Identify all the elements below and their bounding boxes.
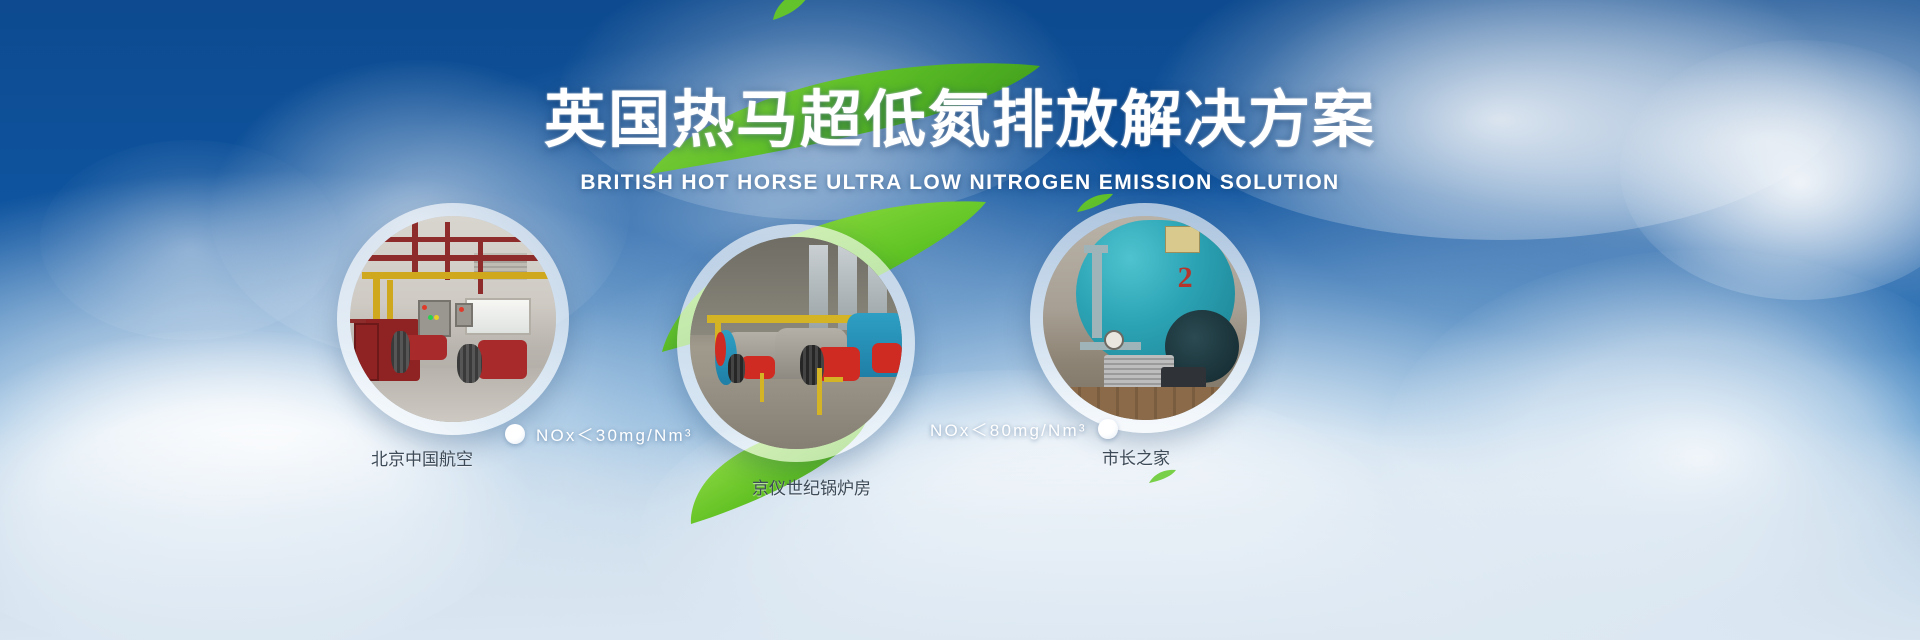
case-cards: 北京中国航空 NOx＜30mg/Nm³: [0, 0, 1920, 640]
blue-boiler-scene: [690, 237, 902, 449]
boiler-number-label: 2: [1178, 261, 1193, 295]
case-photo-jingyi-century-boiler-room[interactable]: [690, 237, 902, 449]
nox-badge-text-3: NOx＜80mg/Nm³: [930, 416, 1087, 441]
nox-badge-text-1: NOx＜30mg/Nm³: [536, 421, 693, 446]
hero-banner: 英国热马超低氮排放解决方案 BRITISH HOT HORSE ULTRA LO…: [0, 0, 1920, 640]
case-caption-1: 北京中国航空: [371, 445, 473, 470]
case-caption-2: 京仪世纪锅炉房: [752, 474, 871, 499]
bullet-dot-icon: [505, 424, 525, 444]
case-card-2[interactable]: 京仪世纪锅炉房: [677, 224, 915, 462]
case-card-1[interactable]: 北京中国航空 NOx＜30mg/Nm³: [337, 203, 569, 435]
photo-ring: [677, 224, 915, 462]
photo-ring: [337, 203, 569, 435]
case-photo-mayor-home[interactable]: 2: [1043, 216, 1247, 420]
case-photo-beijing-air-china[interactable]: [350, 216, 556, 422]
photo-ring: 2: [1030, 203, 1260, 433]
nox-badge-1: NOx＜30mg/Nm³: [505, 421, 693, 446]
teal-boiler-scene: 2: [1043, 216, 1247, 420]
nox-badge-3: NOx＜80mg/Nm³: [930, 416, 1118, 441]
bullet-dot-icon: [1098, 419, 1118, 439]
case-card-3[interactable]: 2 市长之家 NOx＜80mg/Nm³: [1030, 203, 1260, 433]
boiler-room-scene: [350, 216, 556, 422]
case-caption-3: 市长之家: [1102, 444, 1170, 469]
